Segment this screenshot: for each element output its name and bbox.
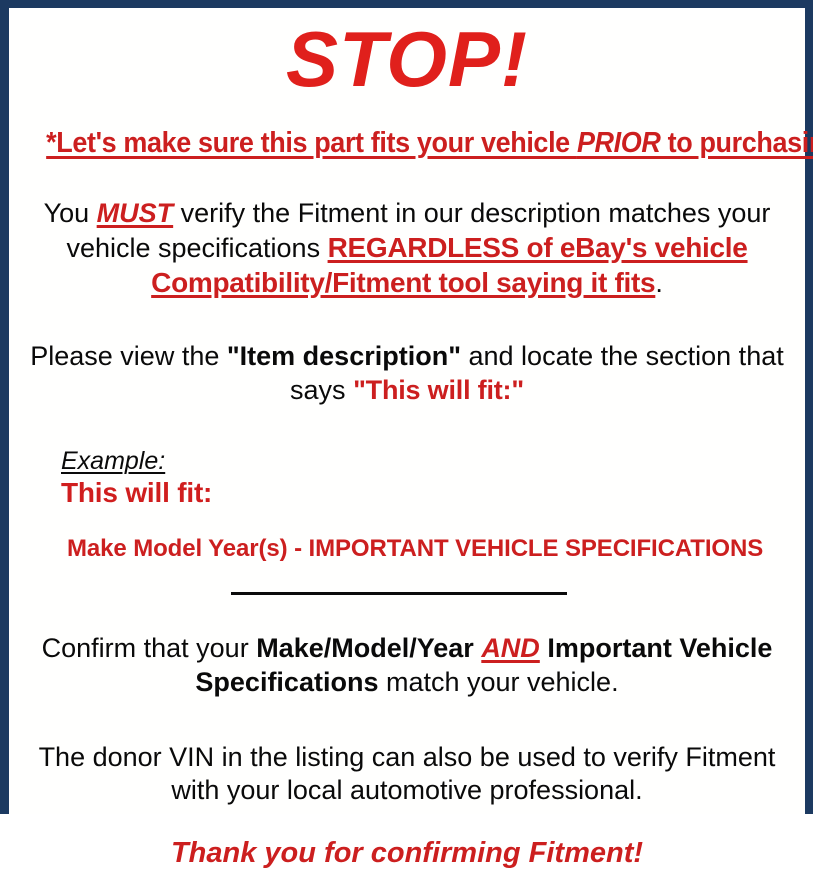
thank-you-line: Thank you for confirming Fitment! bbox=[19, 838, 795, 870]
subtitle-prefix: *Let's make sure this part fits your veh… bbox=[46, 127, 577, 159]
must-emphasis: MUST bbox=[97, 198, 174, 228]
subtitle-suffix: to purchasing* bbox=[660, 127, 813, 159]
item-description-emphasis: "Item description" bbox=[227, 341, 461, 371]
view-paragraph-lead: Please view the bbox=[30, 341, 227, 371]
confirm-paragraph: Confirm that your Make/Model/Year AND Im… bbox=[19, 632, 795, 699]
must-verify-paragraph: You MUST verify the Fitment in our descr… bbox=[19, 197, 795, 300]
confirm-tail: match your vehicle. bbox=[378, 667, 618, 697]
this-will-fit-quote: "This will fit:" bbox=[353, 375, 524, 405]
example-block: Example: This will fit: Make Model Year(… bbox=[19, 447, 795, 562]
stop-heading: STOP! bbox=[19, 20, 795, 100]
confirm-lead: Confirm that your bbox=[42, 633, 257, 663]
must-paragraph-lead: You bbox=[44, 198, 97, 228]
example-label: Example: bbox=[61, 447, 165, 475]
and-emphasis: AND bbox=[481, 633, 540, 663]
divider-rule bbox=[231, 592, 567, 595]
section-divider bbox=[19, 592, 795, 598]
donor-vin-paragraph: The donor VIN in the listing can also be… bbox=[19, 741, 795, 808]
fitment-notice-body: STOP! *Let's make sure this part fits yo… bbox=[9, 20, 805, 814]
fitment-notice-frame: STOP! *Let's make sure this part fits yo… bbox=[0, 0, 813, 814]
example-fit-heading: This will fit: bbox=[61, 477, 795, 508]
example-label-row: Example: bbox=[61, 447, 795, 475]
example-spec-line: Make Model Year(s) - IMPORTANT VEHICLE S… bbox=[67, 536, 795, 562]
view-description-paragraph: Please view the "Item description" and l… bbox=[19, 340, 795, 407]
make-model-year-emphasis: Make/Model/Year bbox=[256, 633, 474, 663]
subtitle-emphasis-prior: PRIOR bbox=[577, 127, 661, 159]
must-paragraph-period: . bbox=[655, 268, 663, 298]
subtitle-warning: *Let's make sure this part fits your veh… bbox=[46, 128, 768, 160]
